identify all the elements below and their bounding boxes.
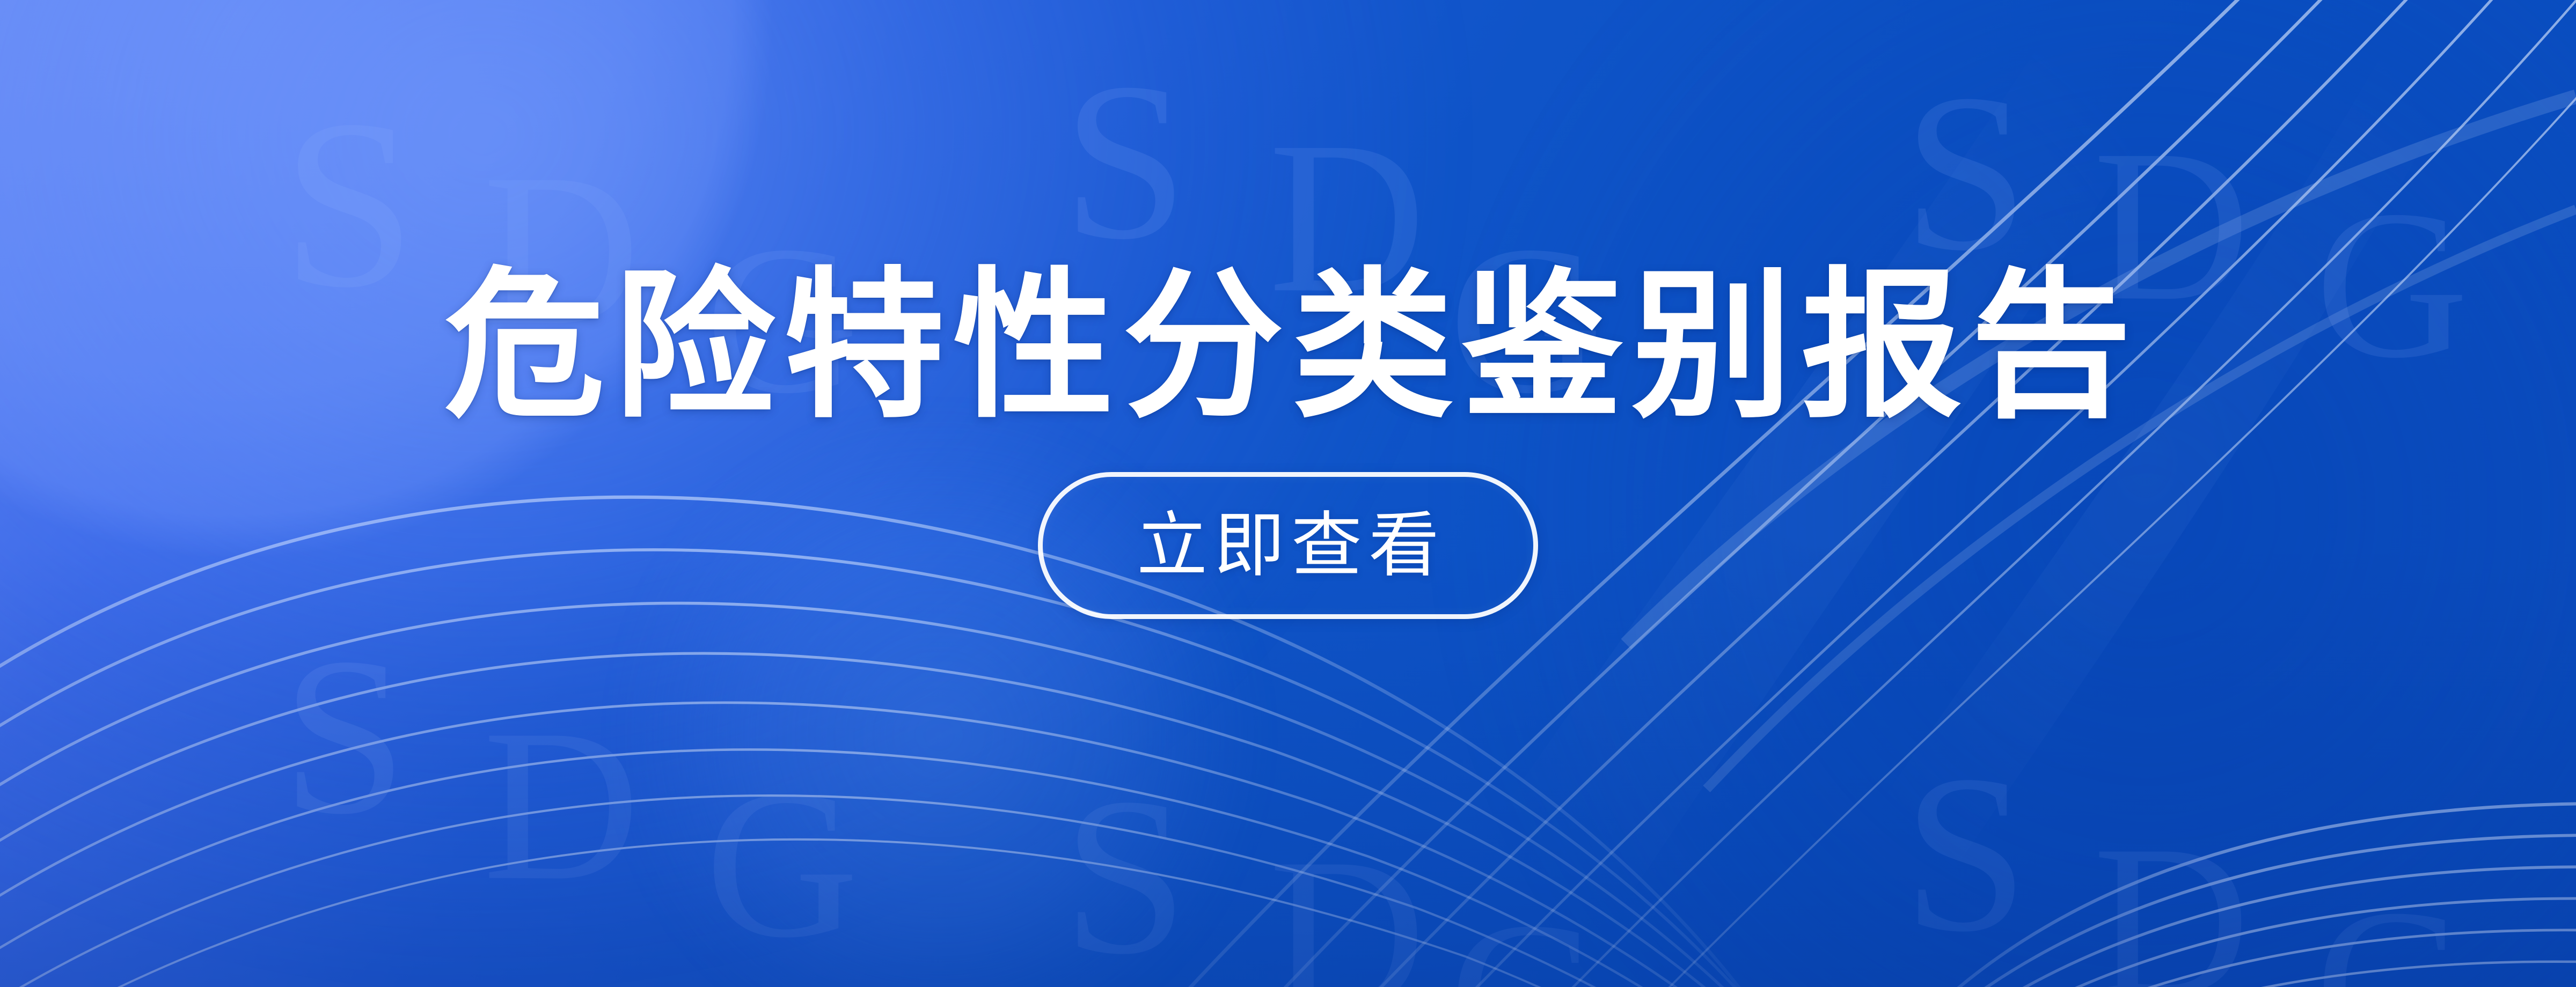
- banner-title: 危险特性分类鉴别报告: [436, 264, 2140, 428]
- view-now-button[interactable]: 立即查看: [1038, 472, 1538, 619]
- banner-content: 危险特性分类鉴别报告 立即查看: [0, 0, 2576, 987]
- hazard-report-banner: SDGSDGSDGSDGSDGSDG 危险特性分类鉴别报告 立即查看: [0, 0, 2576, 987]
